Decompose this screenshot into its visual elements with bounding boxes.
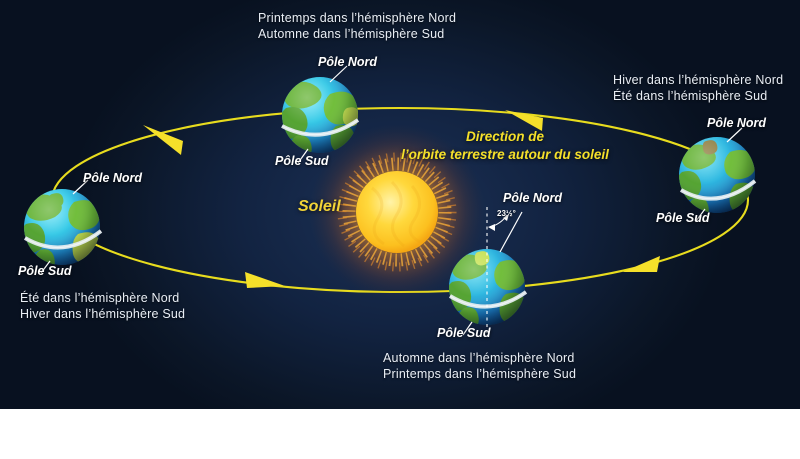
earth-right-pole-south-label: Pôle Sud (656, 211, 709, 225)
earth-left-pole-south-label: Pôle Sud (18, 264, 71, 278)
earth-left-pole-north-label: Pôle Nord (83, 171, 142, 185)
season-label-right: Hiver dans l’hémisphère Nord Été dans l’… (613, 72, 783, 104)
earth-bottom-pole-south-label: Pôle Sud (437, 326, 490, 340)
seasons-diagram: Printemps dans l’hémisphère Nord Automne… (0, 0, 800, 459)
season-label-top-line1: Printemps dans l’hémisphère Nord (258, 10, 456, 26)
earth-right (674, 137, 757, 220)
season-label-right-line2: Été dans l’hémisphère Sud (613, 88, 783, 104)
earth-bottom-pole-north-label: Pôle Nord (503, 191, 562, 205)
season-label-top-line2: Automne dans l’hémisphère Sud (258, 26, 456, 42)
season-label-top: Printemps dans l’hémisphère Nord Automne… (258, 10, 456, 42)
earth-right-pole-north-leader (727, 128, 742, 142)
season-label-left-line1: Été dans l’hémisphère Nord (20, 290, 185, 306)
orbit-and-bodies (0, 0, 800, 409)
earth-right-pole-north-label: Pôle Nord (707, 116, 766, 130)
season-label-bottom-line1: Automne dans l’hémisphère Nord (383, 350, 576, 366)
earth-top-pole-north-label: Pôle Nord (318, 55, 377, 69)
orbit-direction-note-line1: Direction de (389, 128, 621, 146)
sun-label: Soleil (298, 198, 341, 216)
space-background: Printemps dans l’hémisphère Nord Automne… (0, 0, 800, 409)
orbit-arrow-bottom-right (623, 256, 660, 272)
season-label-bottom-line2: Printemps dans l’hémisphère Sud (383, 366, 576, 382)
season-label-right-line1: Hiver dans l’hémisphère Nord (613, 72, 783, 88)
season-label-bottom: Automne dans l’hémisphère Nord Printemps… (383, 350, 576, 382)
earth-top-pole-south-label: Pôle Sud (275, 154, 328, 168)
season-label-left: Été dans l’hémisphère Nord Hiver dans l’… (20, 290, 185, 322)
earth-left (18, 189, 101, 272)
orbit-arrow-bottom-left (245, 272, 285, 288)
orbit-direction-note: Direction de l’orbite terrestre autour d… (389, 128, 621, 164)
axial-tilt-label: 23½° (497, 209, 516, 218)
season-label-left-line2: Hiver dans l’hémisphère Sud (20, 306, 185, 322)
orbit-direction-note-line2: l’orbite terrestre autour du soleil (389, 146, 621, 164)
